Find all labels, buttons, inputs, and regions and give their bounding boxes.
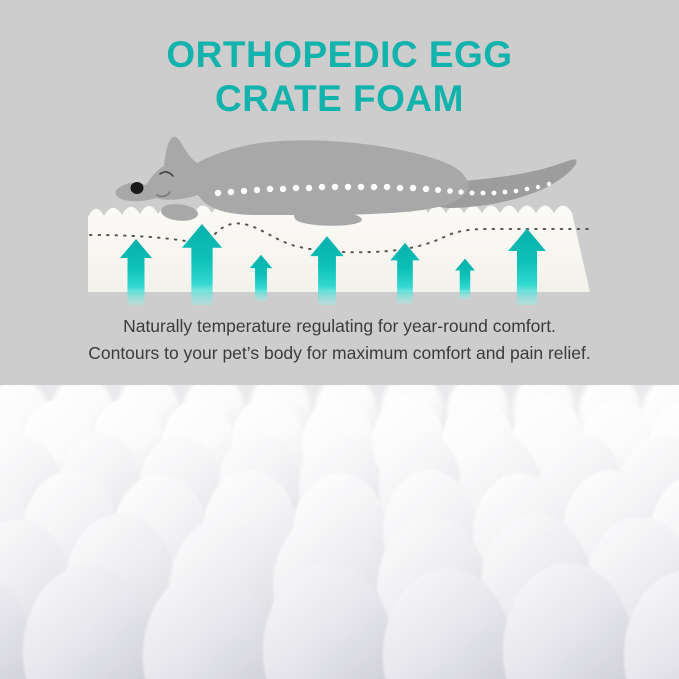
foam-row-6 [0, 563, 679, 679]
infographic-panel: ORTHOPEDIC EGG CRATE FOAM [0, 0, 679, 385]
caption-line-1: Naturally temperature regulating for yea… [123, 316, 556, 336]
dog-body [145, 137, 468, 215]
caption-line-2: Contours to your pet’s body for maximum … [0, 340, 679, 367]
page-title: ORTHOPEDIC EGG CRATE FOAM [0, 33, 679, 121]
egg-crate-foam-photo [0, 385, 679, 679]
headline-line-2: CRATE FOAM [0, 77, 679, 121]
dog-on-foam-illustration [0, 125, 679, 305]
headline-line-1: ORTHOPEDIC EGG [166, 34, 512, 75]
dog-nose [131, 182, 144, 194]
feature-caption: Naturally temperature regulating for yea… [0, 313, 679, 367]
product-feature-graphic: ORTHOPEDIC EGG CRATE FOAM [0, 0, 679, 679]
